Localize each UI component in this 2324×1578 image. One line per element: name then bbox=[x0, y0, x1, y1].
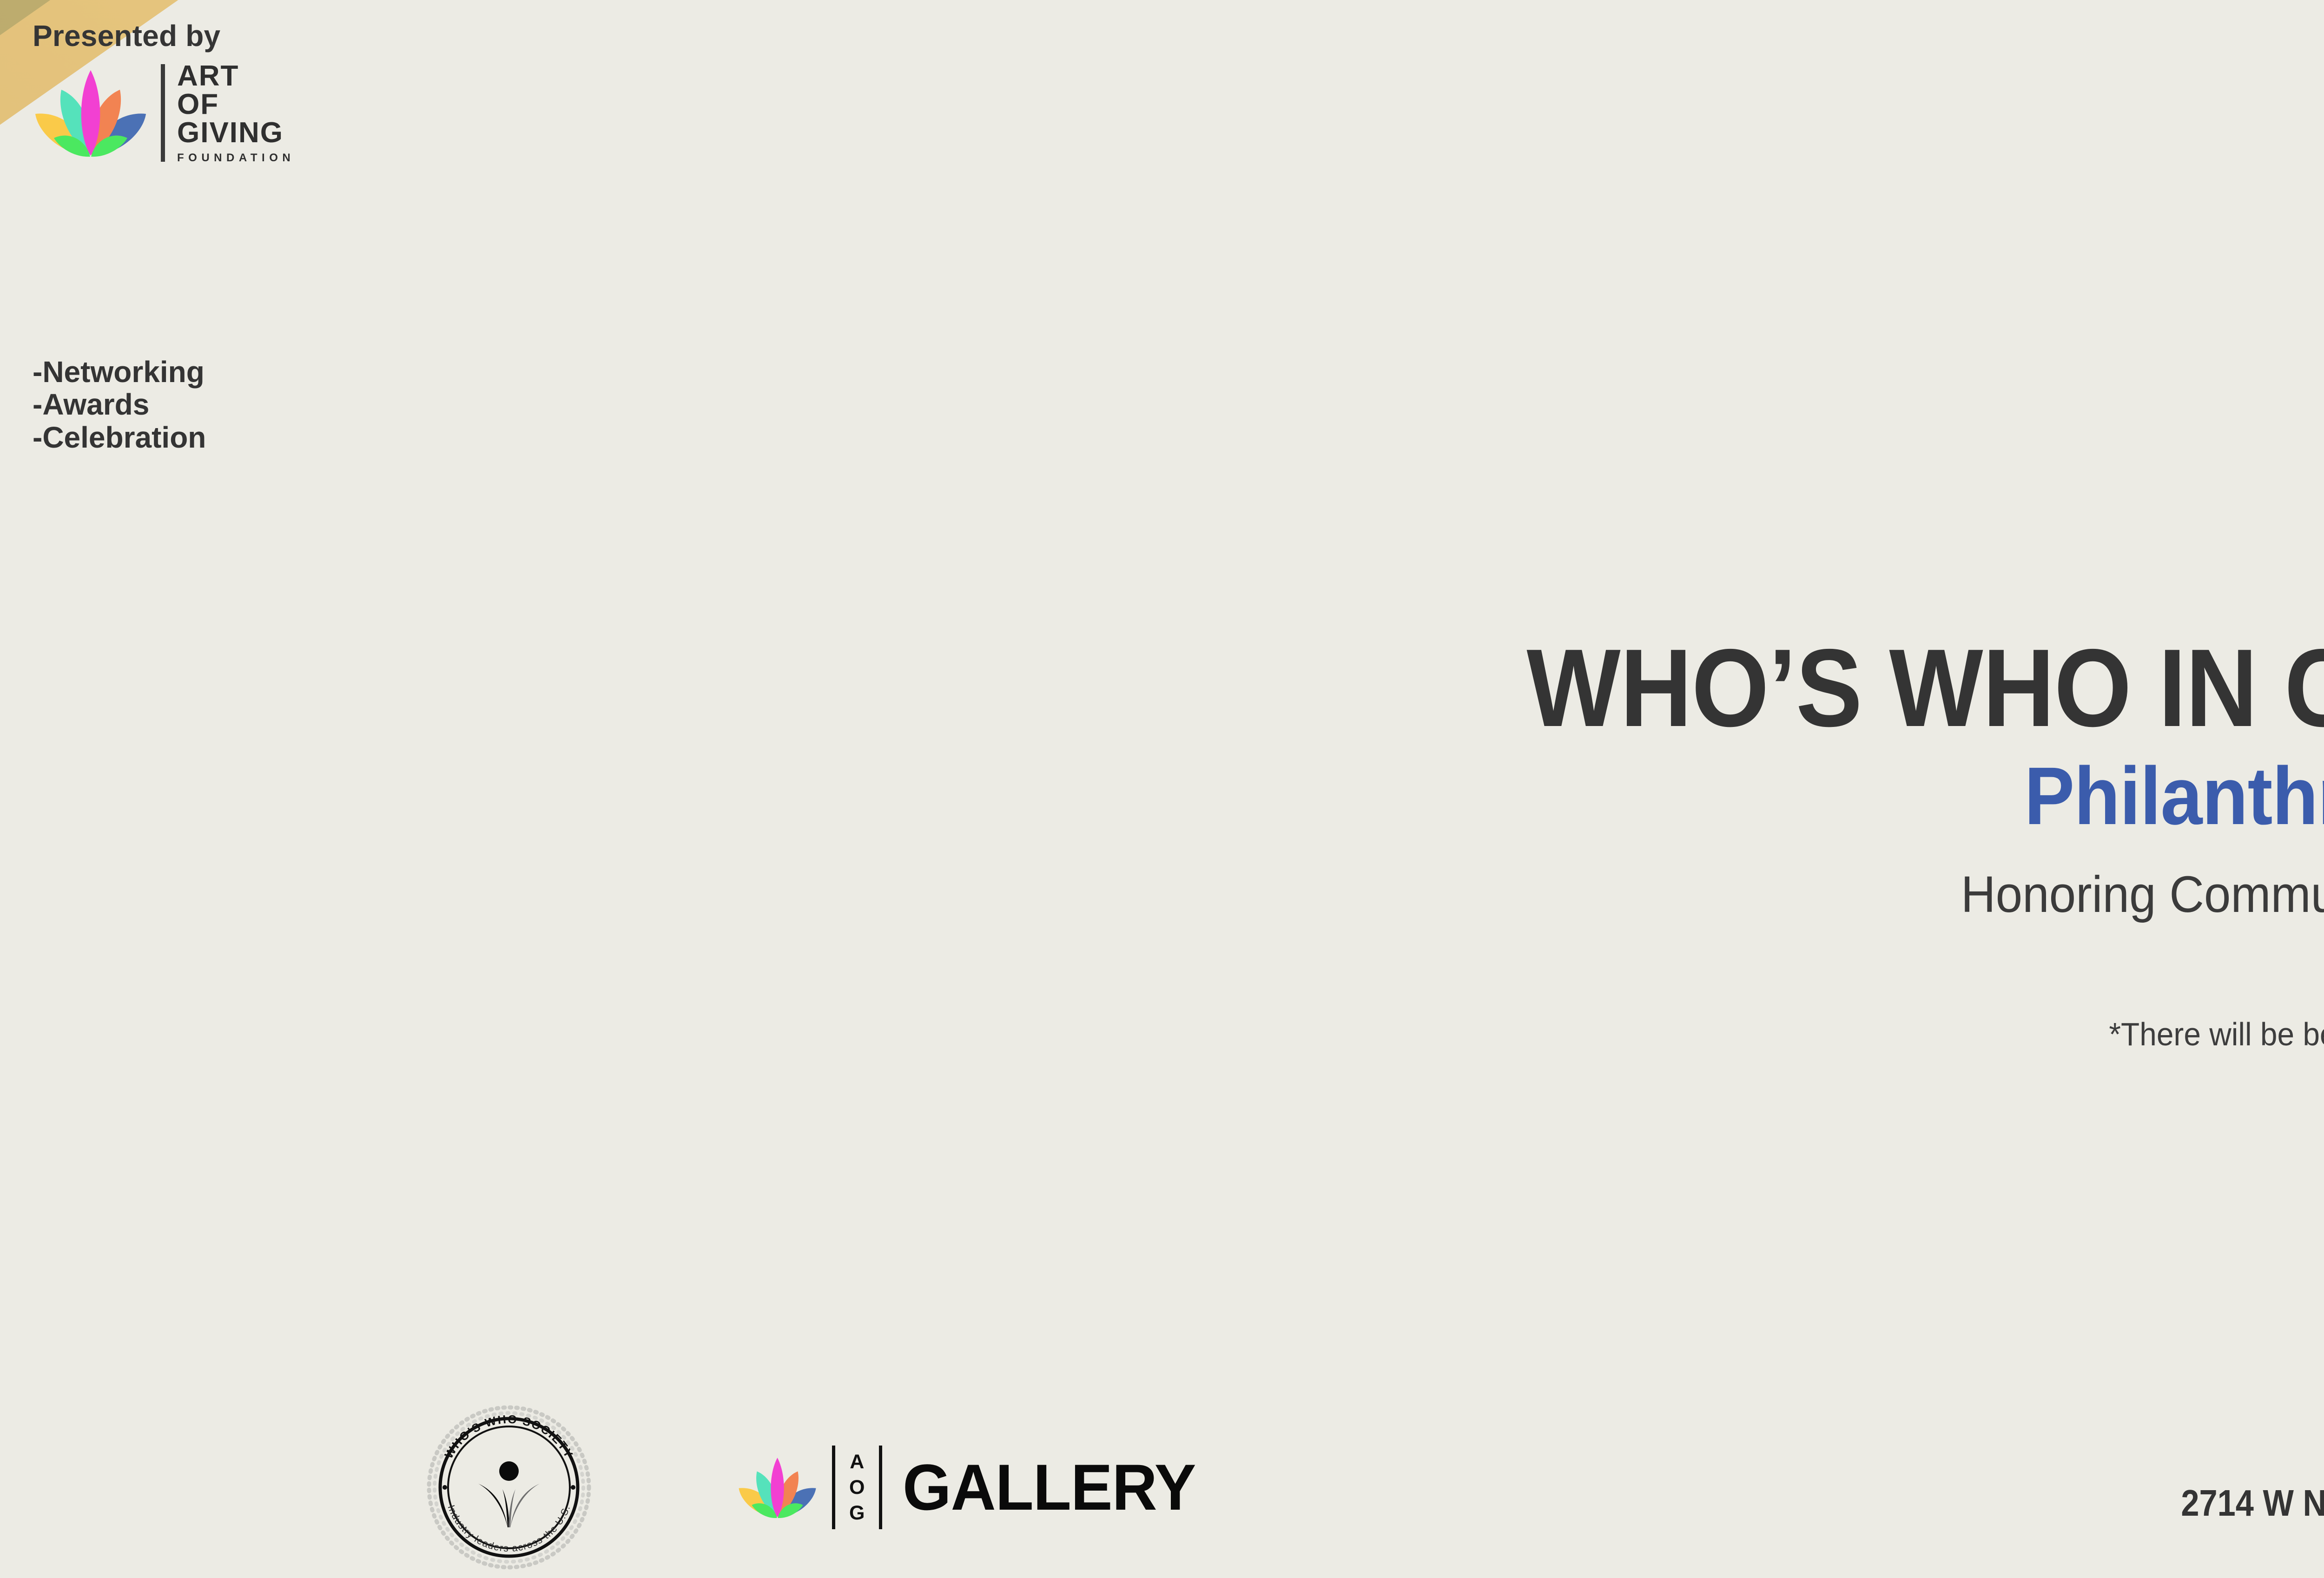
aog-gallery-logo: A O G GALLERY bbox=[737, 1446, 1208, 1529]
gallery-wordmark: GALLERY bbox=[903, 1450, 1195, 1525]
collage-stripe-2 bbox=[0, 0, 196, 1337]
logo-line-foundation: FOUNDATION bbox=[177, 152, 295, 164]
collage-photo-2 bbox=[0, 0, 196, 1337]
event-time: 6pm-9pm bbox=[960, 926, 2324, 983]
gallery-aog-letters: A O G bbox=[849, 1452, 865, 1523]
gallery-letter-a: A bbox=[850, 1452, 865, 1472]
page-title: WHO’S WHO IN CHICAGO bbox=[1037, 638, 2324, 739]
list-item: -Celebration bbox=[33, 421, 206, 454]
collage-lighten-3 bbox=[0, 0, 614, 1134]
list-item: -Networking bbox=[33, 356, 206, 388]
lotus-icon bbox=[33, 63, 149, 163]
event-subtitle: Philanthropy Edition bbox=[998, 755, 2324, 837]
collage-stripe-3 bbox=[0, 0, 614, 1134]
event-date: 05.28.25 bbox=[1151, 546, 2324, 627]
art-of-giving-foundation-logo: ART OF GIVING FOUNDATION bbox=[33, 62, 295, 164]
gallery-divider-left bbox=[832, 1446, 835, 1529]
logo-line-art: ART bbox=[177, 62, 295, 91]
contact-block: +1 (630) 272-6999 2714 W North Ave, Chic… bbox=[2103, 1432, 2324, 1527]
logo-line-giving: GIVING bbox=[177, 119, 295, 147]
event-honoring-text: Honoring Community Changemakers bbox=[960, 866, 2324, 923]
event-highlights-list: -Networking -Awards -Celebration bbox=[33, 356, 206, 454]
event-details: 05.28.25 WHO’S WHO IN CHICAGO Philanthro… bbox=[846, 546, 2324, 1053]
contact-address: 2714 W North Ave, Chicago IL, 60647 bbox=[2181, 1479, 2324, 1527]
logo-wordmark: ART OF GIVING FOUNDATION bbox=[177, 62, 295, 164]
whos-who-society-seal: WHO'S WHO SOCIETY Industry leaders acros… bbox=[421, 1399, 597, 1578]
event-note: *There will be beverages and light bites… bbox=[960, 1016, 2324, 1053]
list-item: -Awards bbox=[33, 388, 206, 421]
collage-lighten-2 bbox=[0, 0, 196, 1337]
logo-line-of: OF bbox=[177, 91, 295, 119]
gallery-divider-right bbox=[879, 1446, 882, 1529]
collage-photo-3 bbox=[353, 0, 614, 1134]
contact-phone[interactable]: +1 (630) 272-6999 bbox=[2181, 1432, 2324, 1479]
logo-divider bbox=[161, 64, 165, 162]
gallery-letter-g: G bbox=[849, 1503, 865, 1523]
gallery-letter-o: O bbox=[849, 1478, 865, 1498]
collage-tint-2 bbox=[0, 0, 196, 1337]
collage-tint-3 bbox=[0, 0, 614, 1134]
presented-by-label: Presented by bbox=[33, 19, 295, 53]
brand-block: Presented by bbox=[33, 19, 295, 164]
lotus-icon bbox=[737, 1453, 818, 1522]
